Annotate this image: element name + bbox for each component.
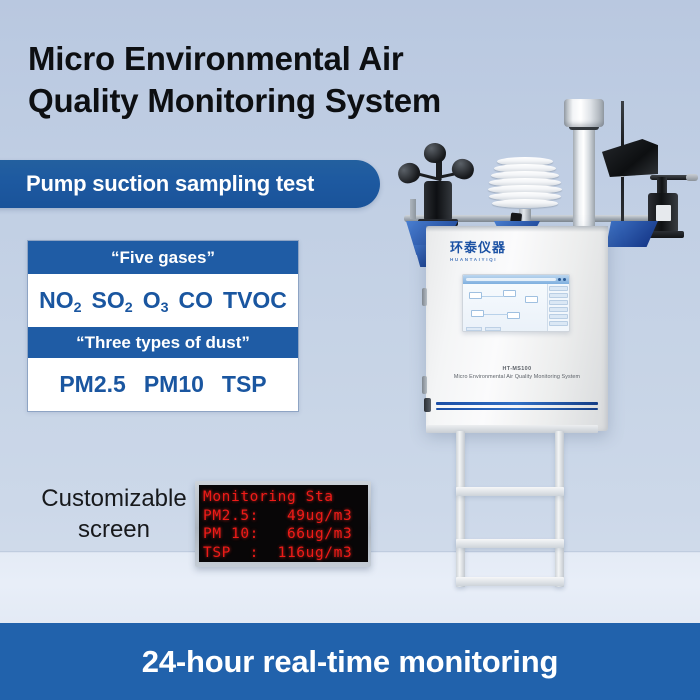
cabinet-touchscreen[interactable] <box>462 274 570 332</box>
screen-title-placeholder <box>466 278 556 281</box>
screen-node <box>525 296 538 303</box>
led-display-board: Monitoring Sta PM2.5: 49ug/m3 PM 10: 66u… <box>195 481 371 567</box>
led-row-pm25: PM2.5: 49ug/m3 <box>203 507 368 526</box>
gas-co: CO <box>174 287 219 314</box>
vane-fin <box>602 139 658 177</box>
screen-node <box>503 290 516 297</box>
cabinet-stripe <box>436 408 598 411</box>
cabinet-hinge <box>422 288 427 306</box>
screen-menu-item[interactable] <box>549 286 568 291</box>
screen-node <box>469 292 482 299</box>
stand-rung <box>456 539 564 548</box>
screen-window-dot <box>563 278 566 281</box>
wind-direction-vane-icon <box>602 133 698 233</box>
screen-menu-item[interactable] <box>549 293 568 298</box>
gas-tvoc: TVOC <box>218 287 292 314</box>
bottom-banner: 24-hour real-time monitoring <box>0 623 700 700</box>
screen-node <box>507 312 520 319</box>
dust-tsp: TSP <box>213 371 276 398</box>
cabinet-latch <box>424 398 431 412</box>
monitoring-cabinet: 环泰仪器 HUANTAIYIQI <box>426 226 608 431</box>
anemometer-body <box>424 181 452 221</box>
brand-logo: 环泰仪器 HUANTAIYIQI <box>450 242 540 262</box>
screen-menu-item[interactable] <box>549 314 568 319</box>
brand-logo-chinese: 环泰仪器 <box>450 242 540 255</box>
gas-no2: NO2 <box>34 287 86 314</box>
screen-menu-item[interactable] <box>549 300 568 305</box>
screen-menu-item[interactable] <box>549 307 568 312</box>
led-screen: Monitoring Sta PM2.5: 49ug/m3 PM 10: 66u… <box>199 485 368 562</box>
stand-rung <box>456 487 564 496</box>
cabinet-stripes <box>436 402 598 413</box>
vane-counterweight <box>686 174 698 181</box>
led-row-tsp: TSP : 116ug/m3 <box>203 544 368 563</box>
page-title-line-1: Micro Environmental Air <box>28 38 498 80</box>
spec-header-gases: “Five gases” <box>28 241 298 274</box>
anemometer-cup <box>395 160 422 186</box>
screen-connector <box>484 314 508 315</box>
anemometer-cup <box>423 142 446 163</box>
spec-row-dust: PM2.5 PM10 TSP <box>28 358 298 411</box>
sampling-tube-body <box>573 127 595 227</box>
pump-suction-banner-label: Pump suction sampling test <box>26 171 314 197</box>
sampling-tube-cap <box>564 99 604 127</box>
spec-header-dust: “Three types of dust” <box>28 327 298 358</box>
sampling-tube-icon <box>564 95 604 230</box>
customizable-screen-line-2: screen <box>24 515 204 546</box>
vane-arm <box>650 175 690 180</box>
stand-leg-right <box>555 431 564 587</box>
led-row-pm10: PM 10: 66ug/m3 <box>203 525 368 544</box>
stand-rung <box>456 577 564 586</box>
screen-diagram-panel <box>463 284 547 332</box>
shield-louver <box>492 199 558 208</box>
screen-tab[interactable] <box>466 327 482 331</box>
screen-window-dot <box>558 278 561 281</box>
screen-tab-row <box>466 327 501 331</box>
gas-so2: SO2 <box>87 287 138 314</box>
screen-menu-item[interactable] <box>549 321 568 326</box>
gas-o3: O3 <box>138 287 174 314</box>
screen-tab[interactable] <box>485 327 501 331</box>
support-stand <box>452 431 572 587</box>
cabinet-top-shadow <box>426 226 608 232</box>
brand-logo-pinyin: HUANTAIYIQI <box>450 257 540 262</box>
dust-pm25: PM2.5 <box>50 371 134 398</box>
customizable-screen-caption: Customizable screen <box>24 484 204 545</box>
screen-connector <box>482 296 504 297</box>
product-image: 环泰仪器 HUANTAIYIQI <box>390 95 700 575</box>
cabinet-stripe <box>436 402 598 405</box>
vane-label <box>656 205 671 221</box>
spec-row-gases: NO2 SO2 O3 CO TVOC <box>28 274 298 327</box>
anemometer-cup <box>449 156 476 182</box>
wind-speed-anemometer-icon <box>398 135 484 230</box>
screen-node <box>471 310 484 317</box>
stand-leg-left <box>456 431 465 587</box>
screen-title-bar <box>463 275 569 284</box>
model-number: HT-MS100 <box>426 366 608 372</box>
mounting-bracket-right <box>606 221 658 247</box>
model-description: Micro Environmental Air Quality Monitori… <box>426 374 608 380</box>
pump-suction-banner: Pump suction sampling test <box>0 160 380 208</box>
bottom-banner-label: 24-hour real-time monitoring <box>142 644 558 680</box>
dust-pm10: PM10 <box>135 371 213 398</box>
stand-top-plate <box>426 425 598 433</box>
screen-content <box>463 284 569 332</box>
customizable-screen-line-1: Customizable <box>24 484 204 515</box>
specification-table: “Five gases” NO2 SO2 O3 CO TVOC “Three t… <box>27 240 299 412</box>
led-row-title: Monitoring Sta <box>203 488 368 507</box>
cabinet-model-plate: HT-MS100 Micro Environmental Air Quality… <box>426 366 608 380</box>
screen-side-menu <box>547 284 569 332</box>
